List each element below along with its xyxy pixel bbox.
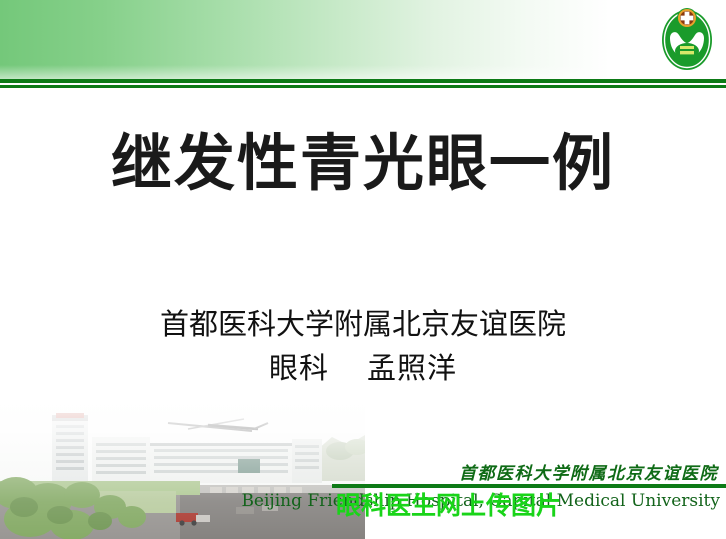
watermark-text: 眼科医生网上传图片 [336,486,561,522]
subtitle-institution: 首都医科大学附属北京友谊医院 [0,303,726,347]
hospital-logo-icon [660,6,714,72]
subtitle-department: 眼科 [269,351,329,385]
hospital-campus-photo [0,389,365,539]
subtitle-author-line: 眼科孟照洋 [0,347,726,391]
presentation-slide: 继发性青光眼一例 首都医科大学附属北京友谊医院 眼科孟照洋 [0,0,726,539]
header-band [0,0,726,79]
footer-chinese: 首都医科大学附属北京友谊医院 [459,459,718,484]
subtitle-author: 孟照洋 [367,351,457,385]
slide-subtitle: 首都医科大学附属北京友谊医院 眼科孟照洋 [0,303,726,390]
slide-title: 继发性青光眼一例 [0,131,726,197]
header-rule-thin [0,85,726,88]
